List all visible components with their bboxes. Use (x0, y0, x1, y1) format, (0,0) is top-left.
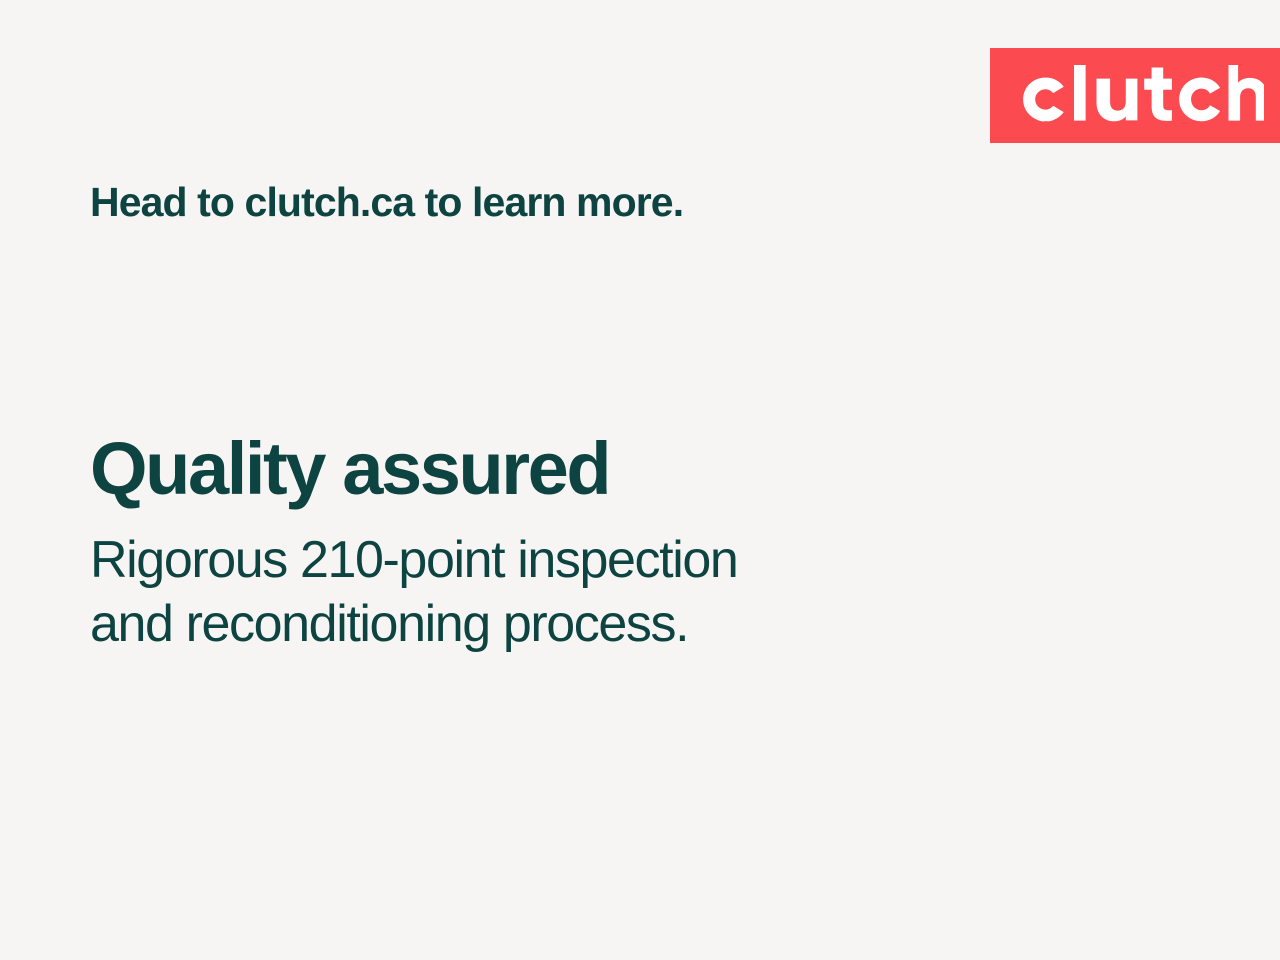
logo-lockup: clutch (990, 48, 1280, 143)
content-block: Quality assured Rigorous 210-point inspe… (90, 432, 1090, 657)
clutch-logo-badge[interactable]: clutch (990, 48, 1280, 143)
subcopy-line-1: Rigorous 210-point inspection (90, 528, 1090, 592)
kicker-text: Head to clutch.ca to learn more. (90, 178, 683, 226)
subcopy-line-2: and reconditioning process. (90, 592, 1090, 656)
subcopy: Rigorous 210-point inspection and recond… (90, 506, 1090, 657)
slide-canvas: clutch Head to clutch.ca to learn more. … (0, 0, 1280, 960)
page-title: Quality assured (90, 432, 1090, 506)
clutch-wordmark-icon (1014, 65, 1264, 127)
